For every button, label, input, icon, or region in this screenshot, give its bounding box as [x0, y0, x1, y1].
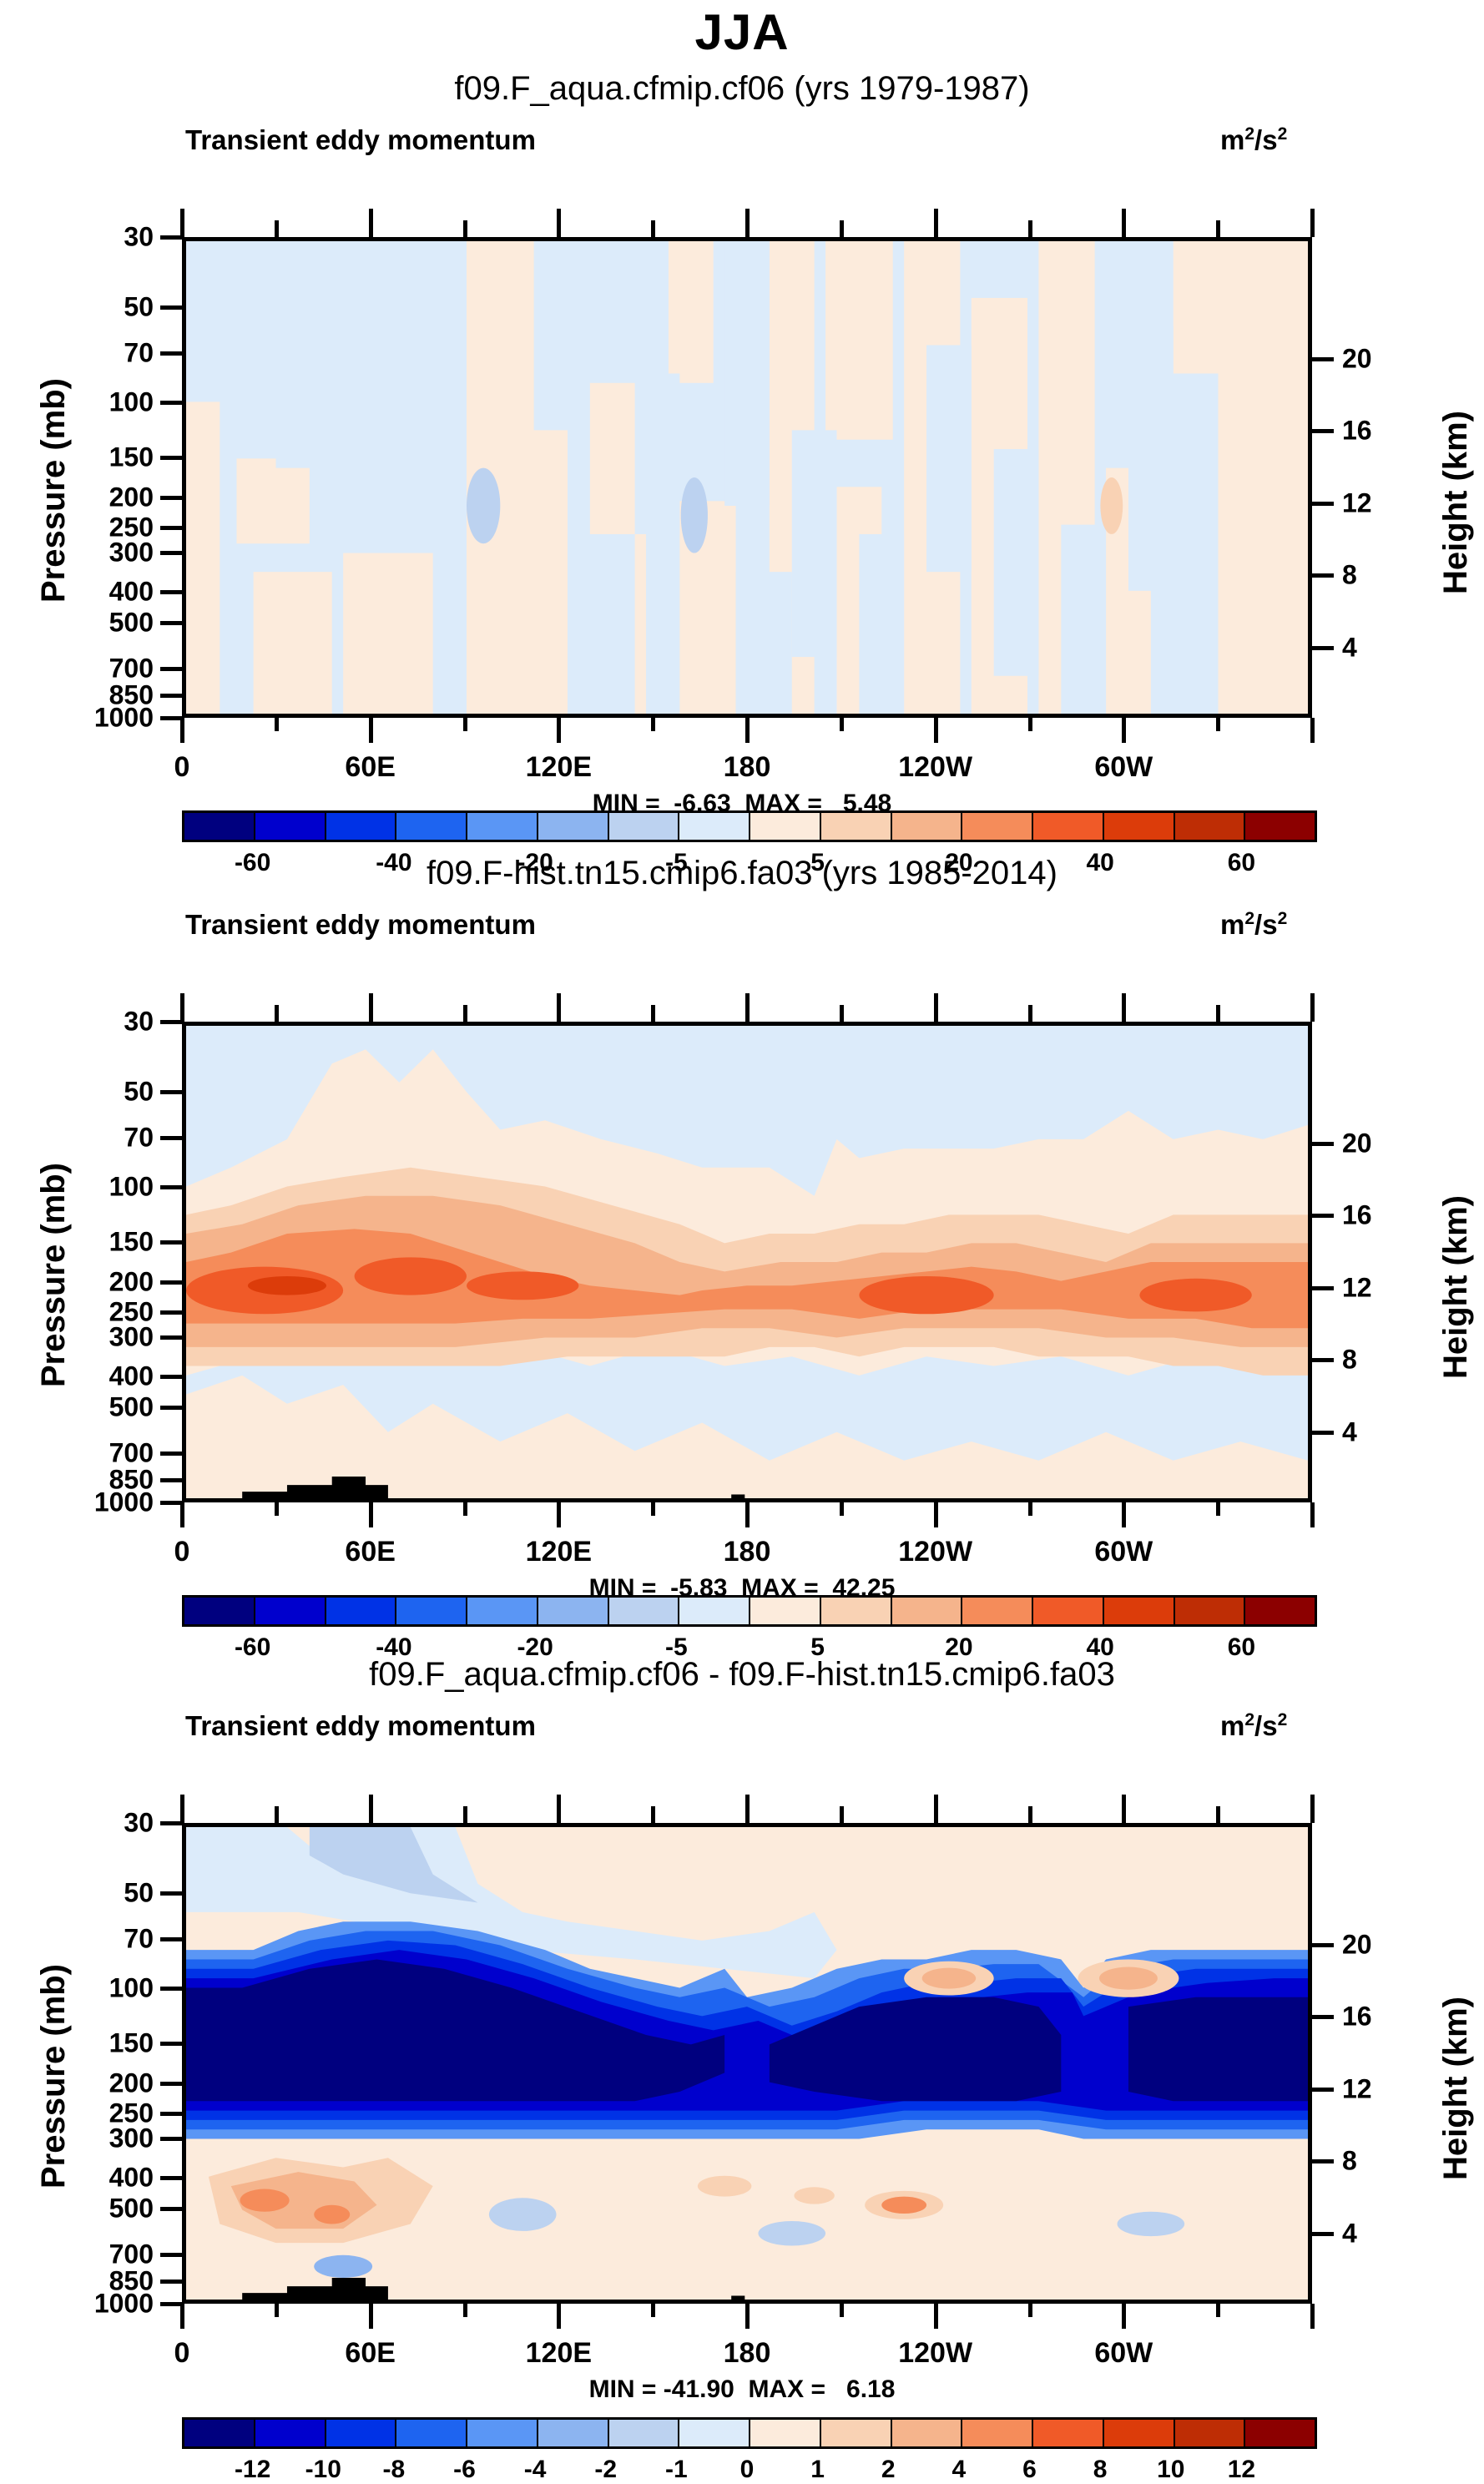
panel-1-units: m2/s2 [1220, 124, 1287, 156]
panel-2-xtick-top [1122, 993, 1126, 1022]
panel-1-xtick [180, 718, 184, 743]
panel-2-yrtick [1312, 1358, 1334, 1362]
panel-2-xtick-top [1216, 1005, 1220, 1022]
panel-2-colorbar-segment [467, 1598, 538, 1624]
panel-2-colorbar-segment [538, 1598, 609, 1624]
panel-3-colorbar-segment [396, 2420, 467, 2446]
panel-3-ytick [160, 2302, 182, 2306]
panel-3-xtick-top [934, 1795, 938, 1823]
panel-3-xtick-top [369, 1795, 373, 1823]
panel-1-xtick [1028, 718, 1032, 731]
panel-1-xtick [463, 718, 467, 731]
panel-1-xtick-label: 60E [345, 751, 396, 784]
panel-1-colorbar-segment [1245, 813, 1315, 840]
panel-1-colorbar-segment [184, 813, 255, 840]
panel-2-xtick-top [745, 993, 750, 1022]
panel-2-xtick [840, 1502, 844, 1516]
panel-2-xtick [1122, 1502, 1126, 1527]
panel-2-colorbar-segment [396, 1598, 467, 1624]
panel-3-plot-area [182, 1823, 1312, 2304]
panel-2-xtick [557, 1502, 561, 1527]
panel-3-ytick [160, 2112, 182, 2116]
panel-2-ytick [160, 1020, 182, 1024]
panel-3-ytick [160, 2207, 182, 2211]
panel-1-ytick [160, 590, 182, 594]
panel-1-ytick [160, 551, 182, 555]
panel-1-colorbar-segment [255, 813, 326, 840]
panel-3-colorbar-segment [184, 2420, 255, 2446]
panel-2-ytick [160, 1280, 182, 1285]
panel-1-yrtick-label: 4 [1342, 632, 1434, 663]
panel-2-ytick-label: 50 [48, 1076, 154, 1107]
panel-3-colorbar-label: -8 [383, 2456, 406, 2484]
panel-2-xtick-label: 60E [345, 1536, 396, 1568]
panel-2-xtick-top [180, 993, 184, 1022]
panel-3-ytick-label: 70 [48, 1924, 154, 1955]
panel-2-colorbar-segment [1033, 1598, 1104, 1624]
panel-3-field-label: Transient eddy momentum [185, 1710, 536, 1742]
panel-2-xtick [651, 1502, 655, 1516]
panel-1-xtick-label: 0 [174, 751, 190, 784]
panel-3-ytick [160, 1937, 182, 1941]
panel-1-colorbar-segment [538, 813, 609, 840]
panel-2-xtick-label: 120E [526, 1536, 592, 1568]
panel-1-xtick-top [651, 220, 655, 237]
panel-3-xtick [1216, 2304, 1220, 2317]
panel-2-xtick-top [1310, 993, 1315, 1022]
panel-2-yrtick [1312, 1214, 1334, 1218]
panel-1-ytick [160, 235, 182, 240]
panel-3-xtick-label: 60W [1094, 2337, 1153, 2370]
panel-2-ytick-label: 1000 [48, 1487, 154, 1518]
panel-1-contour-field [186, 241, 1308, 714]
panel-3-colorbar-segment [609, 2420, 680, 2446]
panel-1-ytick [160, 716, 182, 720]
panel-2-colorbar-segment [255, 1598, 326, 1624]
panel-2-field-label: Transient eddy momentum [185, 909, 536, 941]
panel-3-ytick [160, 2137, 182, 2141]
panel-1-xtick [934, 718, 938, 743]
panel-2-yrtick-label: 12 [1342, 1272, 1434, 1303]
panel-2-y-axis-title: Pressure (mb) [35, 1163, 73, 1387]
panel-1-colorbar-segment [679, 813, 750, 840]
panel-3-xtick-top [1028, 1806, 1032, 1823]
panel-1-xtick [1122, 718, 1126, 743]
panel-3-xtick [557, 2304, 561, 2329]
panel-1-xtick [651, 718, 655, 731]
panel-2-ytick [160, 1185, 182, 1189]
panel-2-colorbar-segment [679, 1598, 750, 1624]
panel-2-yrtick-label: 4 [1342, 1416, 1434, 1447]
panel-1-xtick-top [1310, 209, 1315, 237]
panel-1-xtick [557, 718, 561, 743]
panel-2-xtick-top [275, 1005, 279, 1022]
panel-3-colorbar-segment [679, 2420, 750, 2446]
panel-2-contour-field [186, 1026, 1308, 1498]
panel-1-xtick-label: 180 [724, 751, 771, 784]
panel-1-ytick [160, 526, 182, 530]
panel-1-yrtick [1312, 573, 1334, 578]
panel-3-xtick [745, 2304, 750, 2329]
panel-2-ytick [160, 1310, 182, 1315]
panel-1-xtick-label: 60W [1094, 751, 1153, 784]
panel-2-xtick-top [463, 1005, 467, 1022]
panel-3-yrtick-label: 16 [1342, 2002, 1434, 2032]
panel-3-colorbar-segment [750, 2420, 821, 2446]
panel-2-colorbar-segment [821, 1598, 892, 1624]
panel-1-ytick [160, 621, 182, 625]
panel-2-xtick [463, 1502, 467, 1516]
panel-3-colorbar-label: 1 [810, 2456, 825, 2484]
panel-3-xtick-label: 0 [174, 2337, 190, 2370]
panel-3-xtick [180, 2304, 184, 2329]
panel-1-xtick-top [1028, 220, 1032, 237]
panel-3-yrtick-label: 8 [1342, 2146, 1434, 2177]
panel-3-xtick-top [275, 1806, 279, 1823]
panel-1-xtick-top [463, 220, 467, 237]
panel-1-ytick-label: 70 [48, 338, 154, 369]
panel-3-yrtick-label: 4 [1342, 2218, 1434, 2249]
panel-3-colorbar-label: -6 [453, 2456, 476, 2484]
panel-1-ytick [160, 694, 182, 698]
panel-3-ytick [160, 2280, 182, 2284]
panel-2-xtick-top [369, 993, 373, 1022]
panel-1-xtick [1310, 718, 1315, 743]
panel-1-colorbar-segment [750, 813, 821, 840]
panel-3-xtick [1028, 2304, 1032, 2317]
panel-3-colorbar-segment [1245, 2420, 1315, 2446]
panel-2-xtick-top [557, 993, 561, 1022]
panel-3-y-right-axis-title: Height (km) [1437, 1997, 1475, 2180]
panel-3-ytick [160, 1821, 182, 1825]
panel-2-ytick [160, 1335, 182, 1340]
panel-1-xtick-top [1122, 209, 1126, 237]
panel-3-xtick [651, 2304, 655, 2317]
panel-2-ytick [160, 1136, 182, 1140]
panel-1-xtick-top [1216, 220, 1220, 237]
panel-1-colorbar-segment [396, 813, 467, 840]
panel-3-xtick [934, 2304, 938, 2329]
panel-1-xtick-label: 120E [526, 751, 592, 784]
panel-2-yrtick-label: 16 [1342, 1200, 1434, 1231]
panel-3-yrtick [1312, 1943, 1334, 1947]
panel-2-yrtick [1312, 1286, 1334, 1290]
panel-1-colorbar [182, 810, 1317, 842]
panel-1-colorbar-segment [609, 813, 680, 840]
panel-3-ytick-label: 1000 [48, 2289, 154, 2320]
panel-2-xtick [180, 1502, 184, 1527]
panel-3-xtick [840, 2304, 844, 2317]
panel-1-ytick-label: 30 [48, 222, 154, 253]
panel-3-colorbar-segment [892, 2420, 963, 2446]
panel-2-xtick-top [840, 1005, 844, 1022]
panel-2-colorbar [182, 1595, 1317, 1627]
panel-2-ytick [160, 1375, 182, 1379]
panel-2-xtick [1028, 1502, 1032, 1516]
panel-1-colorbar-segment [467, 813, 538, 840]
panel-2-colorbar-segment [609, 1598, 680, 1624]
panel-2-ytick [160, 1478, 182, 1482]
panel-1-yrtick [1312, 357, 1334, 361]
panel-1-colorbar-segment [892, 813, 963, 840]
panel-3-ytick-label: 30 [48, 1808, 154, 1839]
panel-1-xtick-top [745, 209, 750, 237]
panel-2-xtick-label: 0 [174, 1536, 190, 1568]
panel-1-ytick [160, 401, 182, 405]
panel-2-colorbar-segment [326, 1598, 397, 1624]
panel-2-ytick-label: 70 [48, 1123, 154, 1154]
panel-3-colorbar-segment [538, 2420, 609, 2446]
panel-2-ytick [160, 1501, 182, 1505]
panel-3-ytick [160, 2082, 182, 2086]
panel-1-yrtick-label: 8 [1342, 560, 1434, 591]
panel-3-ytick-label: 500 [48, 2194, 154, 2224]
panel-1-xtick-label: 120W [898, 751, 972, 784]
panel-2-ytick-label: 500 [48, 1392, 154, 1423]
panel-3-xtick-label: 120E [526, 2337, 592, 2370]
panel-3-xtick-top [1216, 1806, 1220, 1823]
panel-2-yrtick-label: 20 [1342, 1128, 1434, 1159]
panel-3-colorbar-label: 8 [1093, 2456, 1108, 2484]
panel-2-plot-area [182, 1022, 1312, 1502]
panel-1-xtick-top [840, 220, 844, 237]
panel-2-xtick-top [1028, 1005, 1032, 1022]
panel-1-ytick-label: 1000 [48, 703, 154, 734]
panel-3-colorbar-segment [962, 2420, 1033, 2446]
panel-2-xtick [745, 1502, 750, 1527]
panel-3-xtick-top [651, 1806, 655, 1823]
panel-3-yrtick [1312, 2088, 1334, 2092]
panel-3-units: m2/s2 [1220, 1710, 1287, 1742]
panel-1-colorbar-segment [962, 813, 1033, 840]
panel-1-ytick [160, 456, 182, 460]
panel-3-ytick [160, 1987, 182, 1991]
panel-2-xtick [934, 1502, 938, 1527]
panel-3-colorbar-label: 12 [1228, 2456, 1255, 2484]
panel-3-contour-field [186, 1827, 1308, 2300]
panel-2-xtick-label: 60W [1094, 1536, 1153, 1568]
panel-1-yrtick [1312, 646, 1334, 650]
panel-3-yrtick [1312, 2159, 1334, 2163]
panel-3-title: f09.F_aqua.cfmip.cf06 - f09.F-hist.tn15.… [0, 1656, 1484, 1694]
panel-3-colorbar-label: -10 [305, 2456, 341, 2484]
panel-3-xtick [1310, 2304, 1315, 2329]
panel-1-xtick [275, 718, 279, 731]
panel-3-colorbar-label: 6 [1022, 2456, 1037, 2484]
panel-2-yrtick-label: 8 [1342, 1345, 1434, 1376]
panel-1-colorbar-segment [1175, 813, 1246, 840]
panel-1-yrtick-label: 20 [1342, 343, 1434, 374]
panel-3-xtick [1122, 2304, 1126, 2329]
panel-2-colorbar-segment [1104, 1598, 1175, 1624]
panel-3-colorbar-label: -2 [594, 2456, 617, 2484]
panel-3-xtick-top [1310, 1795, 1315, 1823]
panel-1-yrtick-label: 16 [1342, 416, 1434, 447]
panel-3-y-axis-title: Pressure (mb) [35, 1964, 73, 2189]
panel-2-xtick-top [934, 993, 938, 1022]
panel-3-colorbar-label: 4 [952, 2456, 967, 2484]
panel-2-xtick-label: 180 [724, 1536, 771, 1568]
panel-3-ytick [160, 2176, 182, 2180]
panel-2-y-right-axis-title: Height (km) [1437, 1195, 1475, 1379]
panel-3-xtick-top [840, 1806, 844, 1823]
panel-1-xtick [745, 718, 750, 743]
figure-main-title: JJA [0, 3, 1484, 61]
panel-3-colorbar-segment [326, 2420, 397, 2446]
panel-1-ytick [160, 667, 182, 671]
panel-3-colorbar-label: 0 [740, 2456, 755, 2484]
panel-3-colorbar [182, 2417, 1317, 2449]
panel-2-xtick-top [651, 1005, 655, 1022]
panel-2-yrtick [1312, 1431, 1334, 1435]
panel-2-colorbar-segment [892, 1598, 963, 1624]
panel-1-yrtick [1312, 429, 1334, 433]
panel-1-colorbar-segment [1104, 813, 1175, 840]
panel-1-colorbar-segment [821, 813, 892, 840]
panel-1-plot-area [182, 237, 1312, 718]
panel-1-title: f09.F_aqua.cfmip.cf06 (yrs 1979-1987) [0, 70, 1484, 108]
panel-3-ytick [160, 1891, 182, 1896]
panel-3-colorbar-segment [255, 2420, 326, 2446]
panel-1-xtick-top [934, 209, 938, 237]
panel-3-colorbar-label: -4 [524, 2456, 547, 2484]
panel-2-xtick-label: 120W [898, 1536, 972, 1568]
panel-2-xtick [275, 1502, 279, 1516]
panel-2-colorbar-segment [750, 1598, 821, 1624]
panel-1-ytick [160, 305, 182, 310]
panel-2-ytick [160, 1406, 182, 1410]
panel-1-xtick-top [557, 209, 561, 237]
panel-1-xtick-top [275, 220, 279, 237]
panel-3-xtick [463, 2304, 467, 2317]
panel-3-yrtick-label: 20 [1342, 1929, 1434, 1960]
panel-1-xtick [1216, 718, 1220, 731]
panel-3-ytick-label: 50 [48, 1877, 154, 1908]
panel-3-colorbar-label: 2 [881, 2456, 896, 2484]
panel-1-xtick [840, 718, 844, 731]
panel-2-colorbar-segment [1175, 1598, 1246, 1624]
panel-3-yrtick-label: 12 [1342, 2073, 1434, 2104]
panel-3-xtick [275, 2304, 279, 2317]
panel-3-minmax: MIN = -41.90 MAX = 6.18 [0, 2375, 1484, 2404]
panel-3-ytick [160, 2253, 182, 2257]
panel-1-colorbar-segment [1033, 813, 1104, 840]
panel-3-yrtick [1312, 2232, 1334, 2236]
panel-3-xtick [369, 2304, 373, 2329]
panel-2-colorbar-segment [962, 1598, 1033, 1624]
panel-3-yrtick [1312, 2015, 1334, 2019]
panel-2-ytick [160, 1240, 182, 1245]
panel-1-ytick-label: 500 [48, 608, 154, 639]
panel-3-xtick-top [557, 1795, 561, 1823]
panel-1-yrtick-label: 12 [1342, 487, 1434, 518]
panel-1-xtick-top [180, 209, 184, 237]
panel-3-colorbar-segment [467, 2420, 538, 2446]
panel-1-ytick-label: 50 [48, 291, 154, 322]
panel-3-xtick-label: 120W [898, 2337, 972, 2370]
panel-3-colorbar-segment [1033, 2420, 1104, 2446]
panel-3-xtick-label: 180 [724, 2337, 771, 2370]
panel-3-colorbar-segment [1175, 2420, 1246, 2446]
panel-3-xtick-top [180, 1795, 184, 1823]
panel-1-y-right-axis-title: Height (km) [1437, 411, 1475, 594]
panel-2-xtick [1216, 1502, 1220, 1516]
panel-2-xtick [1310, 1502, 1315, 1527]
panel-3-xtick-top [745, 1795, 750, 1823]
panel-1-field-label: Transient eddy momentum [185, 124, 536, 156]
panel-3-xtick-label: 60E [345, 2337, 396, 2370]
panel-1-xtick [369, 718, 373, 743]
panel-2-xtick [369, 1502, 373, 1527]
panel-3-colorbar-segment [1104, 2420, 1175, 2446]
panel-2-ytick [160, 1452, 182, 1456]
panel-3-colorbar-label: -1 [665, 2456, 688, 2484]
panel-2-colorbar-segment [184, 1598, 255, 1624]
panel-2-title: f09.F-hist.tn15.cmip6.fa03 (yrs 1985-201… [0, 855, 1484, 892]
panel-3-ytick [160, 2042, 182, 2046]
panel-3-colorbar-label: 10 [1157, 2456, 1184, 2484]
panel-1-yrtick [1312, 502, 1334, 506]
panel-3-colorbar-segment [821, 2420, 892, 2446]
panel-1-colorbar-segment [326, 813, 397, 840]
panel-3-colorbar-label: -12 [235, 2456, 270, 2484]
panel-1-ytick [160, 496, 182, 500]
panel-2-units: m2/s2 [1220, 909, 1287, 941]
panel-3-xtick-top [1122, 1795, 1126, 1823]
panel-1-ytick [160, 351, 182, 356]
panel-1-y-axis-title: Pressure (mb) [35, 378, 73, 603]
panel-2-yrtick [1312, 1142, 1334, 1146]
panel-2-ytick-label: 30 [48, 1007, 154, 1038]
panel-3-xtick-top [463, 1806, 467, 1823]
panel-2-colorbar-segment [1245, 1598, 1315, 1624]
panel-1-xtick-top [369, 209, 373, 237]
panel-2-ytick [160, 1090, 182, 1094]
